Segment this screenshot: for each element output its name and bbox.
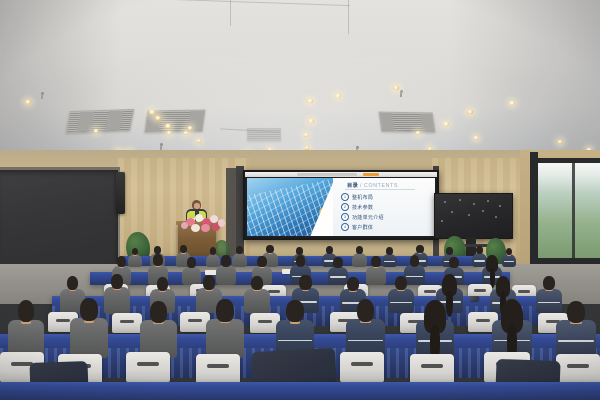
window-mullion bbox=[572, 162, 575, 262]
audience-head bbox=[357, 299, 375, 322]
audience-head bbox=[251, 276, 263, 290]
audience-torso bbox=[232, 253, 247, 267]
air-vent bbox=[66, 109, 135, 133]
audience-head bbox=[347, 277, 359, 291]
air-vent bbox=[379, 112, 436, 133]
uniform-reflective-stripe bbox=[558, 340, 594, 342]
audience-head bbox=[416, 245, 423, 253]
toc-item-2: 2 技术参数 bbox=[341, 203, 373, 211]
downlight bbox=[149, 110, 154, 114]
uniform-reflective-stripe bbox=[406, 276, 423, 278]
audience-head bbox=[333, 257, 342, 268]
sprinkler-icon bbox=[400, 90, 403, 93]
audience-torso bbox=[472, 253, 487, 267]
audience-head bbox=[543, 276, 555, 290]
audience-torso bbox=[366, 266, 386, 285]
flower-arrangement bbox=[182, 212, 224, 232]
chair[interactable] bbox=[112, 313, 142, 333]
audience-ponytail bbox=[446, 291, 453, 317]
toolbar-badge bbox=[363, 173, 379, 176]
conference-table-foreground bbox=[0, 382, 600, 400]
downlight bbox=[25, 100, 30, 104]
audience-head bbox=[117, 256, 126, 267]
audience-head bbox=[154, 246, 161, 254]
chair[interactable] bbox=[556, 354, 600, 384]
downlight bbox=[443, 122, 448, 126]
window-glare bbox=[537, 162, 600, 192]
audience-head bbox=[567, 301, 585, 323]
uniform-reflective-stripe bbox=[538, 302, 560, 304]
main-led-display[interactable]: 目录 / CONTENTS 1 整机布局 2 技术参数 3 功能单元介绍 bbox=[243, 170, 439, 240]
audience-torso bbox=[244, 289, 270, 314]
chair[interactable] bbox=[410, 354, 454, 384]
uniform-reflective-stripe bbox=[474, 260, 485, 262]
toc-label: 整机布局 bbox=[352, 194, 373, 201]
audience-head bbox=[111, 274, 123, 289]
audience-head bbox=[410, 255, 420, 267]
sprinkler-icon bbox=[160, 143, 163, 146]
downlight bbox=[304, 133, 309, 136]
audience-head bbox=[216, 299, 233, 322]
slide-contents-panel: 目录 / CONTENTS 1 整机布局 2 技术参数 3 功能单元介绍 bbox=[333, 178, 435, 236]
toc-label: 技术参数 bbox=[352, 204, 373, 211]
downlight bbox=[307, 99, 312, 103]
audience-head bbox=[371, 256, 380, 267]
toc-number: 3 bbox=[341, 213, 349, 221]
uniform-reflective-stripe bbox=[278, 340, 312, 342]
mobile-phone[interactable] bbox=[470, 296, 479, 301]
audience-head bbox=[210, 247, 216, 255]
toc-number: 2 bbox=[341, 203, 349, 211]
wall-speaker bbox=[116, 172, 125, 214]
toc-item-4: 4 客户群体 bbox=[341, 223, 373, 231]
downlight bbox=[184, 131, 189, 135]
downlight bbox=[308, 119, 313, 123]
audience-head bbox=[326, 246, 333, 254]
slide-title-rule bbox=[345, 189, 415, 190]
audience-head bbox=[395, 276, 407, 290]
toc-number: 1 bbox=[341, 193, 349, 201]
ceiling-seam bbox=[230, 0, 231, 26]
audience-torso bbox=[352, 253, 367, 267]
audience-torso bbox=[70, 318, 108, 358]
downlight bbox=[165, 124, 170, 128]
downlight bbox=[474, 136, 479, 139]
audience-torso bbox=[502, 254, 516, 266]
audience-head bbox=[221, 255, 230, 267]
toc-label: 客户群体 bbox=[352, 224, 373, 231]
chair[interactable] bbox=[126, 352, 170, 382]
audience-head bbox=[150, 301, 167, 323]
audience-head bbox=[80, 298, 97, 321]
audience-torso bbox=[128, 254, 142, 266]
window-mullion bbox=[530, 152, 538, 267]
audience-head bbox=[203, 275, 215, 290]
presentation-slide: 目录 / CONTENTS 1 整机布局 2 技术参数 3 功能单元介绍 bbox=[247, 178, 435, 236]
audience-head bbox=[157, 277, 169, 291]
audience-torso bbox=[328, 267, 348, 286]
ceiling-shadow-right bbox=[450, 0, 600, 175]
sprinkler-icon bbox=[356, 146, 359, 149]
projection-screen-left bbox=[0, 170, 120, 268]
slide-photo-solar-panels bbox=[247, 178, 335, 236]
audience-head bbox=[153, 254, 162, 266]
audience-head bbox=[506, 248, 512, 255]
ceiling-seam bbox=[348, 0, 349, 34]
audience-head bbox=[296, 247, 303, 255]
audience-head bbox=[386, 247, 393, 255]
audience-torso bbox=[404, 265, 425, 285]
audience-head bbox=[449, 257, 458, 268]
downlight bbox=[155, 116, 160, 120]
audience-head bbox=[18, 300, 35, 322]
chair[interactable] bbox=[340, 352, 384, 382]
downlight bbox=[467, 110, 472, 114]
audience-head bbox=[67, 276, 79, 290]
uniform-reflective-stripe bbox=[330, 276, 346, 278]
slide-title: 目录 / CONTENTS bbox=[347, 182, 398, 189]
audience-head bbox=[299, 275, 311, 290]
sun-glow-icon bbox=[319, 208, 327, 216]
downlight bbox=[509, 101, 514, 105]
audience-head bbox=[286, 300, 303, 322]
toc-item-1: 1 整机布局 bbox=[341, 193, 373, 201]
uniform-reflective-stripe bbox=[390, 302, 412, 304]
uniform-reflective-stripe bbox=[384, 261, 395, 263]
audience-torso bbox=[206, 319, 244, 358]
audience-head bbox=[132, 248, 138, 255]
downlight bbox=[197, 139, 202, 142]
audience-head bbox=[266, 245, 273, 253]
audience-head bbox=[296, 255, 306, 267]
toc-label: 功能单元介绍 bbox=[352, 214, 384, 221]
audience-torso bbox=[388, 289, 414, 314]
audience-torso bbox=[206, 254, 220, 267]
audience-torso bbox=[556, 320, 596, 358]
browser-toolbar[interactable] bbox=[245, 172, 437, 177]
audience-torso bbox=[536, 289, 562, 314]
audience-head bbox=[356, 246, 363, 254]
toc-item-3: 3 功能单元介绍 bbox=[341, 213, 384, 221]
downlight bbox=[335, 94, 341, 98]
audience-torso bbox=[216, 265, 236, 285]
downlight bbox=[167, 131, 172, 135]
sprinkler-icon bbox=[41, 92, 44, 95]
audience-head bbox=[446, 247, 453, 255]
address-bar[interactable] bbox=[297, 173, 357, 176]
air-vent bbox=[247, 128, 281, 141]
audience-torso bbox=[182, 267, 201, 286]
downlight bbox=[558, 140, 563, 143]
audience-head bbox=[236, 246, 243, 254]
audience-torso bbox=[104, 287, 130, 313]
audience-torso bbox=[382, 254, 397, 267]
window-mullion bbox=[537, 158, 600, 163]
downlight bbox=[94, 129, 99, 133]
audience-head bbox=[187, 257, 196, 268]
conference-room-photo: 目录 / CONTENTS 1 整机布局 2 技术参数 3 功能单元介绍 bbox=[0, 0, 600, 400]
audience-head bbox=[476, 246, 483, 254]
ceiling-shadow-left bbox=[0, 0, 120, 175]
uniform-reflective-stripe bbox=[504, 261, 514, 263]
wall-mounted-tv[interactable] bbox=[434, 193, 513, 239]
audience-head bbox=[257, 256, 266, 267]
downlight bbox=[416, 131, 421, 135]
toc-number: 4 bbox=[341, 223, 349, 231]
audience-head bbox=[180, 245, 187, 253]
downlight bbox=[393, 86, 399, 90]
chair[interactable] bbox=[196, 354, 240, 384]
uniform-reflective-stripe bbox=[348, 340, 383, 342]
